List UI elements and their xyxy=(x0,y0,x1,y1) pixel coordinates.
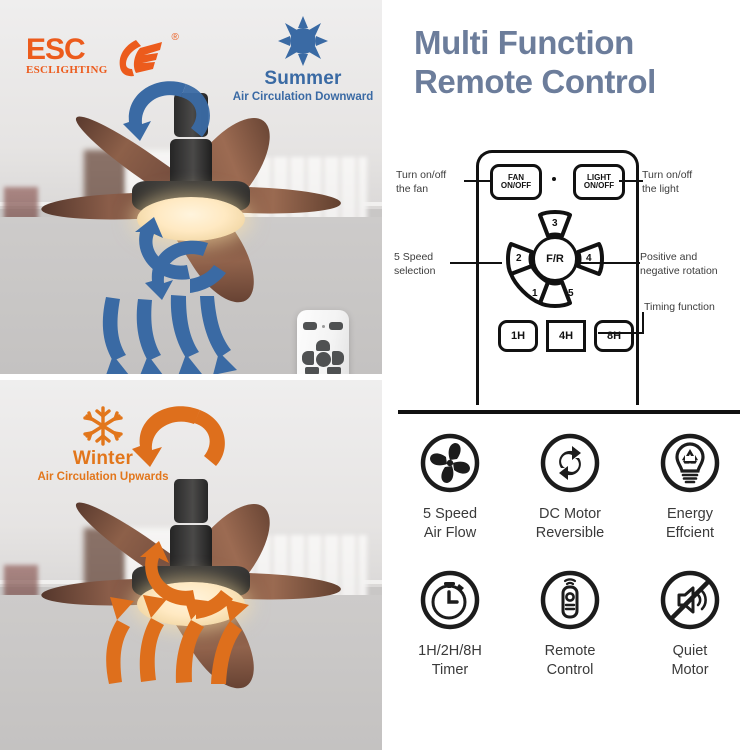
feature-label: 1H/2H/8H Timer xyxy=(390,642,510,680)
physical-remote-photo xyxy=(297,310,349,374)
feature-label-line2: Motor xyxy=(630,661,750,680)
snowflake-icon xyxy=(75,404,131,448)
ceiling-fan-winter xyxy=(11,465,371,695)
feature-row-1: 5 Speed Air Flow DC Motor Reve xyxy=(390,432,750,543)
feature-label: Quiet Motor xyxy=(630,642,750,680)
fan-downrod xyxy=(174,479,208,523)
left-photo-column: ESC ESCLIGHTING ® xyxy=(0,0,382,750)
brand-mark-icon: ® xyxy=(110,36,176,85)
registered-trademark: ® xyxy=(172,32,179,43)
callout-fan-power: Turn on/off the fan xyxy=(396,168,478,196)
feature-label-line2: Timer xyxy=(390,661,510,680)
section-divider xyxy=(398,410,740,414)
feature-remote-control: Remote Control xyxy=(510,569,630,680)
speed-5-label: 5 xyxy=(568,288,574,299)
leader-line-timing-v xyxy=(642,312,644,334)
summer-title: Summer xyxy=(228,68,378,90)
feature-label: 5 Speed Air Flow xyxy=(390,505,510,543)
infographic-page: ESC ESCLIGHTING ® xyxy=(0,0,750,750)
callout-rotation: Positive and negative rotation xyxy=(640,250,746,278)
feature-energy-efficient: Energy Effcient xyxy=(630,432,750,543)
speed-4-label: 4 xyxy=(586,253,592,264)
callout-light-power-line1: Turn on/off xyxy=(642,168,742,182)
ceiling-fan-summer xyxy=(11,79,371,309)
feature-grid: 5 Speed Air Flow DC Motor Reve xyxy=(390,432,750,679)
summer-subtitle: Air Circulation Downward xyxy=(228,91,378,103)
feature-label-line2: Air Flow xyxy=(390,524,510,543)
summer-photo: ESC ESCLIGHTING ® xyxy=(0,0,382,374)
brand-name: ESC xyxy=(26,36,108,65)
winter-photo: Winter Air Circulation Upwards xyxy=(0,380,382,750)
speed-1-label: 1 xyxy=(532,288,538,299)
fan-on-off-button[interactable]: FAN ON/OFF xyxy=(490,164,542,200)
feature-row-2: 1H/2H/8H Timer xyxy=(390,569,750,680)
summer-badge: Summer Air Circulation Downward xyxy=(228,16,378,103)
forward-reverse-button[interactable]: F/R xyxy=(532,236,578,282)
callout-speed-selection: 5 Speed selection xyxy=(394,250,474,278)
timer-button-row: 1H 4H 8H xyxy=(498,320,634,352)
light-on-off-button[interactable]: LIGHT ON/OFF xyxy=(573,164,625,200)
feature-timer: 1H/2H/8H Timer xyxy=(390,569,510,680)
feature-label: DC Motor Reversible xyxy=(510,505,630,543)
timer-4h-button[interactable]: 4H xyxy=(546,320,586,352)
leader-line-timing-h xyxy=(598,332,644,334)
brand-subtitle: ESCLIGHTING xyxy=(26,64,108,76)
timer-1h-button[interactable]: 1H xyxy=(498,320,538,352)
brand-logo: ESC ESCLIGHTING ® xyxy=(26,36,176,85)
fan-light xyxy=(137,582,245,626)
feature-label-line2: Effcient xyxy=(630,524,750,543)
fan-button-label-2: ON/OFF xyxy=(501,182,531,190)
callout-timing: Timing function xyxy=(644,300,750,314)
feature-label-line2: Reversible xyxy=(510,524,630,543)
winter-badge: Winter Air Circulation Upwards xyxy=(8,404,198,483)
callout-rotation-line2: negative rotation xyxy=(640,264,746,278)
page-title: Multi Function Remote Control xyxy=(414,24,744,102)
headline-line-1: Multi Function xyxy=(414,24,744,63)
fan-downrod xyxy=(174,93,208,137)
right-info-column: Multi Function Remote Control FAN ON/OFF… xyxy=(390,0,750,750)
winter-title: Winter xyxy=(8,448,198,470)
feature-label-line1: Remote xyxy=(510,642,630,661)
feature-label-line1: 1H/2H/8H xyxy=(390,642,510,661)
fan-light xyxy=(137,197,245,241)
sun-icon xyxy=(268,16,338,68)
feature-label: Energy Effcient xyxy=(630,505,750,543)
stopwatch-icon xyxy=(419,569,481,631)
callout-rotation-line1: Positive and xyxy=(640,250,746,264)
fan-blades-icon xyxy=(419,432,481,494)
eco-bulb-icon xyxy=(659,432,721,494)
leader-line-speed xyxy=(450,262,502,264)
feature-dc-motor-reversible: DC Motor Reversible xyxy=(510,432,630,543)
remote-icon xyxy=(539,569,601,631)
remote-diagram: FAN ON/OFF LIGHT ON/OFF xyxy=(390,140,750,402)
speed-3-label: 3 xyxy=(552,218,558,229)
winter-subtitle: Air Circulation Upwards xyxy=(8,471,198,483)
light-button-label-2: ON/OFF xyxy=(584,182,614,190)
feature-label-line2: Control xyxy=(510,661,630,680)
callout-light-power: Turn on/off the light xyxy=(642,168,742,196)
feature-quiet-motor: Quiet Motor xyxy=(630,569,750,680)
timer-8h-button[interactable]: 8H xyxy=(594,320,634,352)
feature-label-line1: 5 Speed xyxy=(390,505,510,524)
callout-light-power-line2: the light xyxy=(642,182,742,196)
feature-5-speed-air-flow: 5 Speed Air Flow xyxy=(390,432,510,543)
callout-speed-line2: selection xyxy=(394,264,474,278)
leader-line-light xyxy=(619,180,643,182)
headline-line-2: Remote Control xyxy=(414,63,744,102)
feature-label-line1: Energy xyxy=(630,505,750,524)
feature-label-line1: DC Motor xyxy=(510,505,630,524)
callout-fan-power-line2: the fan xyxy=(396,182,478,196)
mute-speaker-icon xyxy=(659,569,721,631)
feature-label: Remote Control xyxy=(510,642,630,680)
reversible-arrows-icon xyxy=(539,432,601,494)
feature-label-line1: Quiet xyxy=(630,642,750,661)
leader-line-fan xyxy=(464,180,492,182)
speed-2-label: 2 xyxy=(516,253,522,264)
led-indicator-icon xyxy=(552,177,556,181)
